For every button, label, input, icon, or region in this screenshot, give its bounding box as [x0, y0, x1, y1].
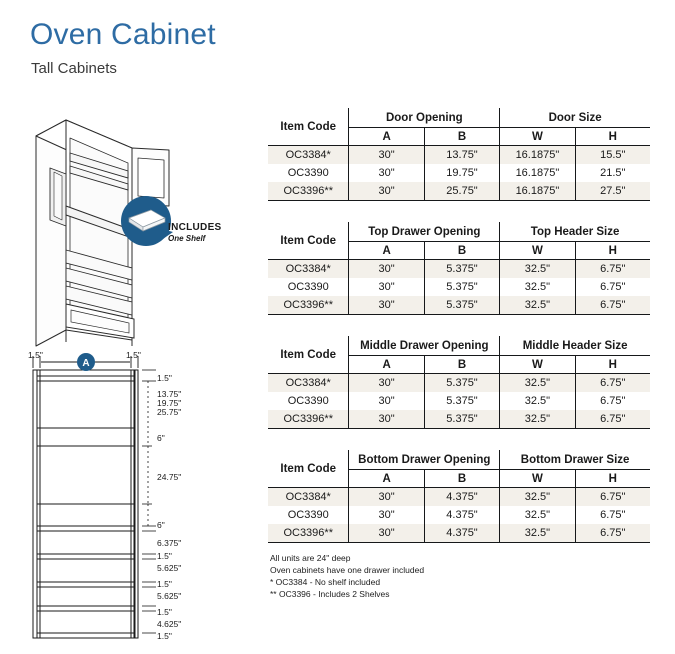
- table-row: OC3384*30"13.75"16.1875"15.5": [268, 146, 650, 165]
- dim-right-14: 1.5": [157, 631, 172, 641]
- dim-right-7: 6.375": [157, 538, 181, 548]
- cell-value: 30": [349, 374, 424, 393]
- middle-drawer-spec-table: Item CodeMiddle Drawer OpeningMiddle Hea…: [268, 336, 650, 429]
- table-group-header-row: Item CodeTop Drawer OpeningTop Header Si…: [268, 222, 650, 242]
- cell-item-code: OC3396**: [268, 296, 349, 315]
- table-row: OC3384*30"4.375"32.5"6.75": [268, 488, 650, 507]
- group-header-0: Bottom Drawer Opening: [349, 450, 500, 470]
- dim-right-10: 1.5": [157, 579, 172, 589]
- group-header-0: Middle Drawer Opening: [349, 336, 500, 356]
- sub-header-h: H: [575, 242, 650, 260]
- bottom-drawer-spec-table: Item CodeBottom Drawer OpeningBottom Dra…: [268, 450, 650, 543]
- dim-top-right-width: 1.5": [126, 350, 141, 360]
- cell-value: 6.75": [575, 392, 650, 410]
- cell-value: 30": [349, 410, 424, 429]
- dim-right-4: 6": [157, 433, 165, 443]
- cell-value: 21.5": [575, 164, 650, 182]
- cell-value: 5.375": [424, 278, 499, 296]
- cell-value: 30": [349, 488, 424, 507]
- table-row: OC3396**30"4.375"32.5"6.75": [268, 524, 650, 543]
- badge-one-shelf-label: One Shelf: [168, 234, 222, 243]
- table-row: OC3384*30"5.375"32.5"6.75": [268, 374, 650, 393]
- dim-right-8: 1.5": [157, 551, 172, 561]
- sub-header-w: W: [500, 128, 575, 146]
- sub-header-a: A: [349, 356, 424, 374]
- group-header-1: Bottom Drawer Size: [500, 450, 650, 470]
- cell-value: 32.5": [500, 278, 575, 296]
- door-spec-table: Item CodeDoor OpeningDoor SizeABWHOC3384…: [268, 108, 650, 201]
- cell-item-code: OC3384*: [268, 146, 349, 165]
- cell-value: 30": [349, 182, 424, 201]
- table-row: OC3396**30"5.375"32.5"6.75": [268, 410, 650, 429]
- footnote-0: All units are 24" deep: [270, 552, 424, 564]
- footnote-3: ** OC3396 - Includes 2 Shelves: [270, 588, 424, 600]
- sub-header-b: B: [424, 242, 499, 260]
- cell-value: 30": [349, 146, 424, 165]
- cell-value: 30": [349, 506, 424, 524]
- sub-header-a: A: [349, 128, 424, 146]
- item-code-header: Item Code: [268, 222, 349, 260]
- cell-item-code: OC3390: [268, 164, 349, 182]
- table-row: OC339030"5.375"32.5"6.75": [268, 392, 650, 410]
- item-code-header: Item Code: [268, 108, 349, 146]
- item-code-header: Item Code: [268, 450, 349, 488]
- top-drawer-spec-table: Item CodeTop Drawer OpeningTop Header Si…: [268, 222, 650, 315]
- table-group-header-row: Item CodeDoor OpeningDoor Size: [268, 108, 650, 128]
- cell-value: 32.5": [500, 260, 575, 279]
- sub-header-h: H: [575, 356, 650, 374]
- cell-item-code: OC3396**: [268, 524, 349, 543]
- cell-value: 6.75": [575, 374, 650, 393]
- cell-value: 6.75": [575, 488, 650, 507]
- cell-item-code: OC3390: [268, 392, 349, 410]
- sub-header-b: B: [424, 356, 499, 374]
- cell-value: 4.375": [424, 488, 499, 507]
- cell-item-code: OC3384*: [268, 374, 349, 393]
- sub-header-a: A: [349, 470, 424, 488]
- sub-header-b: B: [424, 470, 499, 488]
- cell-value: 30": [349, 278, 424, 296]
- cell-item-code: OC3390: [268, 506, 349, 524]
- dim-right-12: 1.5": [157, 607, 172, 617]
- cell-value: 5.375": [424, 374, 499, 393]
- svg-text:A: A: [82, 358, 89, 369]
- cell-item-code: OC3396**: [268, 410, 349, 429]
- cell-value: 15.5": [575, 146, 650, 165]
- cell-value: 30": [349, 524, 424, 543]
- cell-value: 4.375": [424, 506, 499, 524]
- cell-item-code: OC3396**: [268, 182, 349, 201]
- cell-value: 16.1875": [500, 164, 575, 182]
- cell-item-code: OC3390: [268, 278, 349, 296]
- cell-value: 5.375": [424, 410, 499, 429]
- cell-value: 32.5": [500, 392, 575, 410]
- cell-value: 25.75": [424, 182, 499, 201]
- cabinet-elevation-dimension-drawing: A: [0, 348, 258, 644]
- group-header-1: Top Header Size: [500, 222, 650, 242]
- dim-right-5: 24.75": [157, 472, 181, 482]
- cell-value: 16.1875": [500, 182, 575, 201]
- cell-value: 13.75": [424, 146, 499, 165]
- cell-value: 5.375": [424, 296, 499, 315]
- dim-top-left-width: 1.5": [28, 350, 43, 360]
- table-row: OC3396**30"5.375"32.5"6.75": [268, 296, 650, 315]
- cell-value: 30": [349, 260, 424, 279]
- cell-value: 32.5": [500, 506, 575, 524]
- page-title: Oven Cabinet: [30, 20, 216, 50]
- cell-value: 6.75": [575, 524, 650, 543]
- cell-value: 27.5": [575, 182, 650, 201]
- group-header-0: Door Opening: [349, 108, 500, 128]
- cell-value: 32.5": [500, 488, 575, 507]
- cell-value: 32.5": [500, 524, 575, 543]
- item-code-header: Item Code: [268, 336, 349, 374]
- cell-item-code: OC3384*: [268, 488, 349, 507]
- page-subtitle: Tall Cabinets: [31, 60, 117, 77]
- cell-value: 30": [349, 392, 424, 410]
- dim-right-6: 6": [157, 520, 165, 530]
- cell-value: 6.75": [575, 296, 650, 315]
- group-header-1: Middle Header Size: [500, 336, 650, 356]
- dim-right-11: 5.625": [157, 591, 181, 601]
- table-row: OC3384*30"5.375"32.5"6.75": [268, 260, 650, 279]
- sub-header-h: H: [575, 128, 650, 146]
- sub-header-w: W: [500, 242, 575, 260]
- dim-right-3: 25.75": [157, 407, 181, 417]
- table-row: OC339030"4.375"32.5"6.75": [268, 506, 650, 524]
- cell-value: 16.1875": [500, 146, 575, 165]
- cell-value: 30": [349, 164, 424, 182]
- badge-includes-label: INCLUDES: [168, 222, 222, 233]
- footnote-2: * OC3384 - No shelf included: [270, 576, 424, 588]
- table-row: OC339030"19.75"16.1875"21.5": [268, 164, 650, 182]
- table-group-header-row: Item CodeBottom Drawer OpeningBottom Dra…: [268, 450, 650, 470]
- cell-value: 5.375": [424, 260, 499, 279]
- cell-value: 32.5": [500, 410, 575, 429]
- cell-value: 4.375": [424, 524, 499, 543]
- footnote-1: Oven cabinets have one drawer included: [270, 564, 424, 576]
- dim-right-9: 5.625": [157, 563, 181, 573]
- cell-value: 32.5": [500, 374, 575, 393]
- sub-header-h: H: [575, 470, 650, 488]
- sub-header-w: W: [500, 356, 575, 374]
- table-row: OC3396**30"25.75"16.1875"27.5": [268, 182, 650, 201]
- badge-text-group: INCLUDES One Shelf: [168, 222, 222, 243]
- cell-value: 6.75": [575, 506, 650, 524]
- sub-header-a: A: [349, 242, 424, 260]
- table-group-header-row: Item CodeMiddle Drawer OpeningMiddle Hea…: [268, 336, 650, 356]
- footnotes-block: All units are 24" deep Oven cabinets hav…: [270, 552, 424, 600]
- dim-right-13: 4.625": [157, 619, 181, 629]
- cell-value: 5.375": [424, 392, 499, 410]
- sub-header-b: B: [424, 128, 499, 146]
- group-header-0: Top Drawer Opening: [349, 222, 500, 242]
- dim-right-0: 1.5": [157, 373, 172, 383]
- cell-value: 6.75": [575, 260, 650, 279]
- cell-value: 19.75": [424, 164, 499, 182]
- cell-value: 30": [349, 296, 424, 315]
- cell-item-code: OC3384*: [268, 260, 349, 279]
- cell-value: 6.75": [575, 410, 650, 429]
- table-row: OC339030"5.375"32.5"6.75": [268, 278, 650, 296]
- group-header-1: Door Size: [500, 108, 650, 128]
- cell-value: 6.75": [575, 278, 650, 296]
- cell-value: 32.5": [500, 296, 575, 315]
- sub-header-w: W: [500, 470, 575, 488]
